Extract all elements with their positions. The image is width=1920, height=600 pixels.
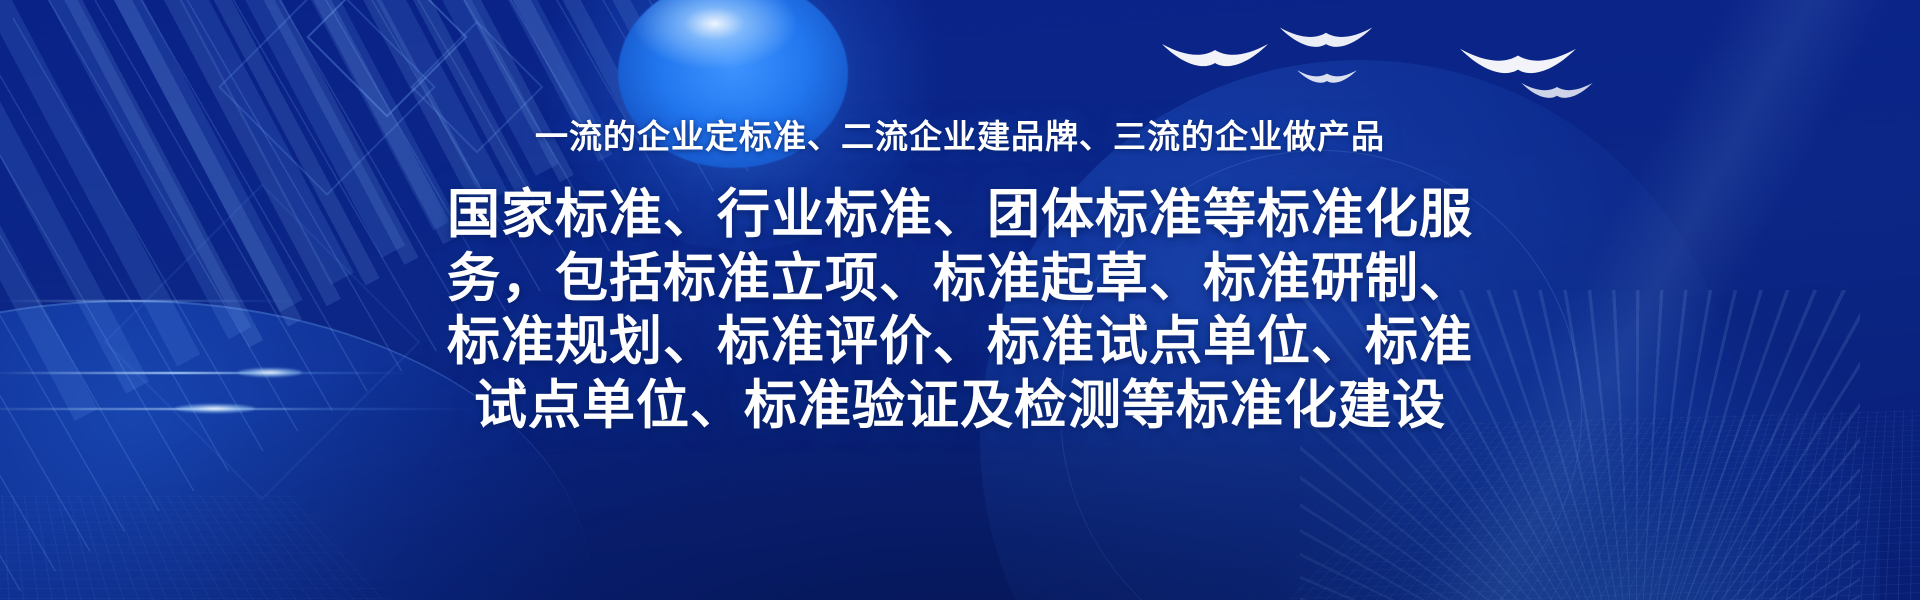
banner-headline: 国家标准、行业标准、团体标准等标准化服 务，包括标准立项、标准起草、标准研制、 … [0,157,1920,437]
headline-line-1: 国家标准、行业标准、团体标准等标准化服 [0,183,1920,247]
banner-subtitle: 一流的企业定标准、二流企业建品牌、三流的企业做产品 [0,0,1920,157]
headline-line-3: 标准规划、标准评价、标准试点单位、标准 [0,310,1920,374]
headline-line-4: 试点单位、标准验证及检测等标准化建设 [0,374,1920,438]
headline-line-2: 务，包括标准立项、标准起草、标准研制、 [0,247,1920,311]
banner-content: 一流的企业定标准、二流企业建品牌、三流的企业做产品 国家标准、行业标准、团体标准… [0,0,1920,438]
standardization-banner: 一流的企业定标准、二流企业建品牌、三流的企业做产品 国家标准、行业标准、团体标准… [0,0,1920,600]
